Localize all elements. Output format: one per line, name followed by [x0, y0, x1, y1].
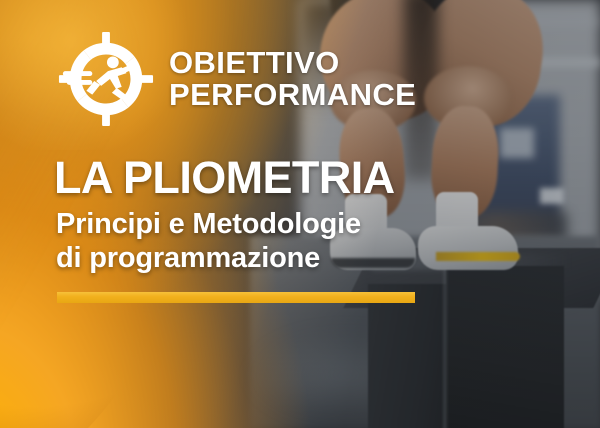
target-runner-logo-icon	[57, 30, 155, 128]
brand-name: OBIETTIVO PERFORMANCE	[169, 47, 416, 111]
brand-name-line-2: PERFORMANCE	[169, 79, 416, 111]
subtitle: Principi e Metodologie di programmazione	[56, 208, 361, 276]
brand-lockup: OBIETTIVO PERFORMANCE	[57, 30, 416, 128]
banner-content: OBIETTIVO PERFORMANCE LA PLIOMETRIA Prin…	[0, 0, 600, 428]
accent-rule	[57, 292, 415, 303]
brand-name-line-1: OBIETTIVO	[169, 47, 416, 79]
subtitle-line-1: Principi e Metodologie	[56, 208, 361, 242]
subtitle-line-2: di programmazione	[56, 242, 361, 276]
promo-banner: OBIETTIVO PERFORMANCE LA PLIOMETRIA Prin…	[0, 0, 600, 428]
headline: LA PLIOMETRIA	[54, 155, 395, 200]
